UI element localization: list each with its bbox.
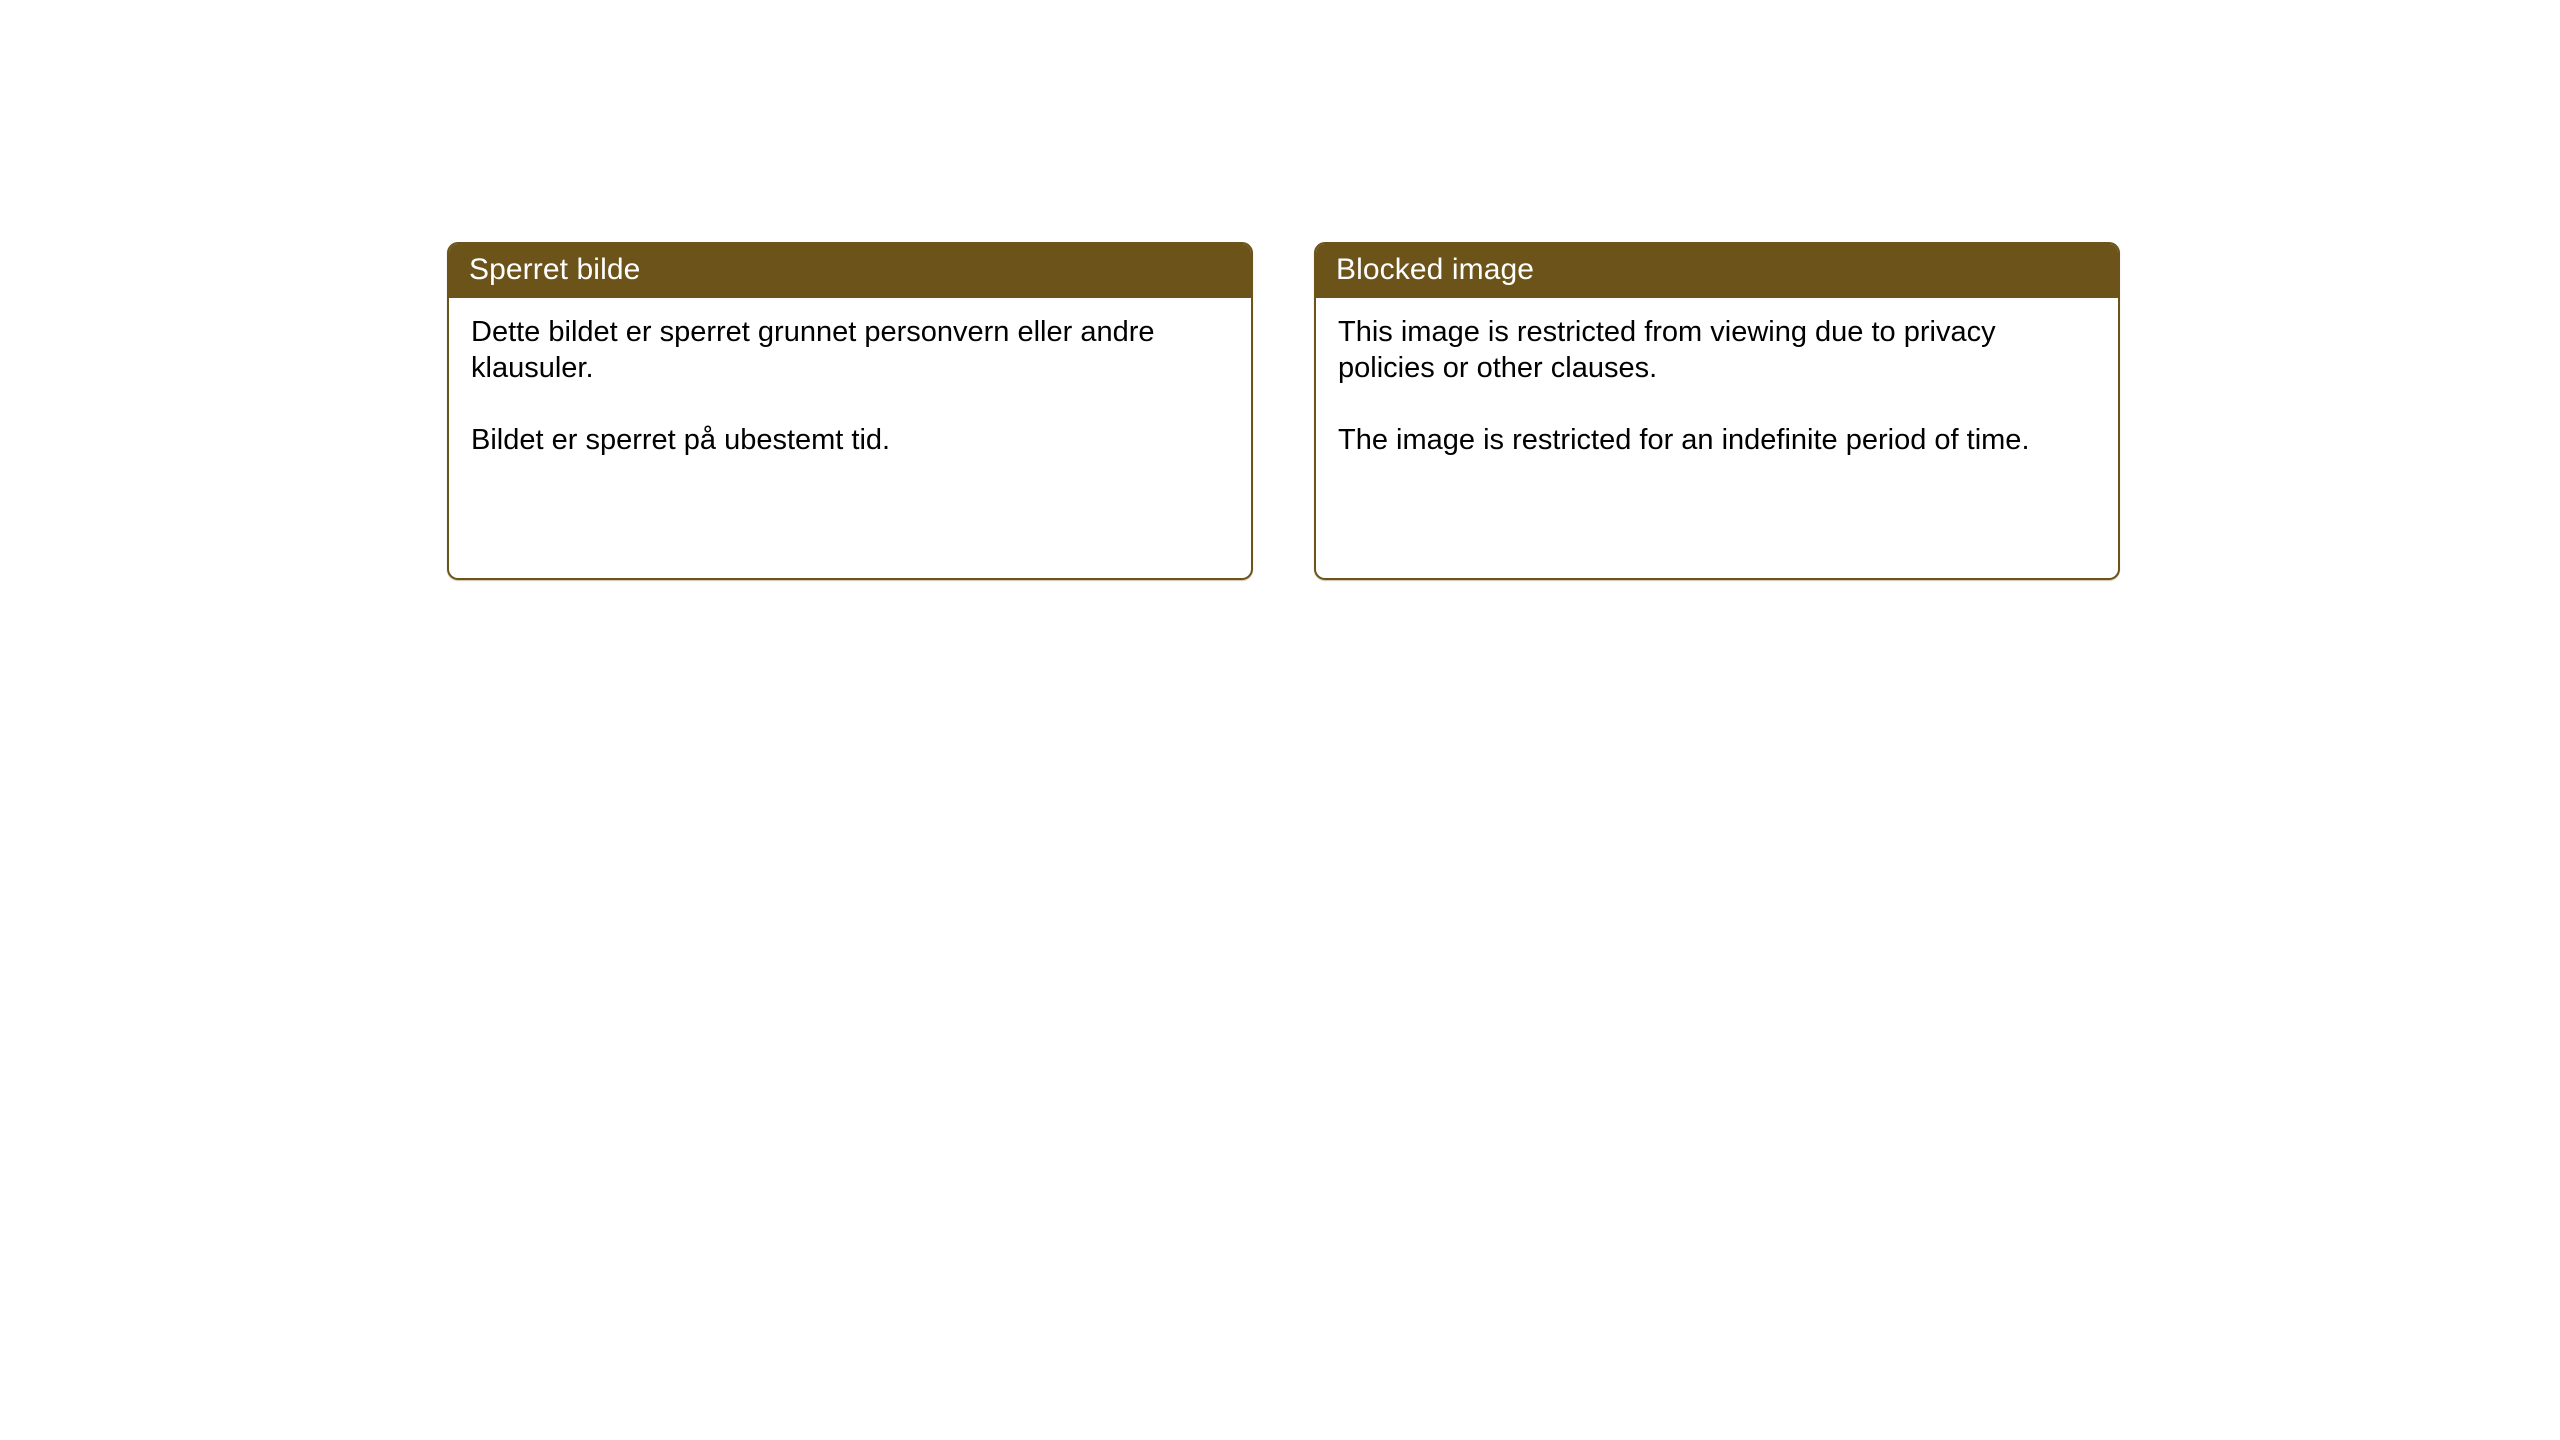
blocked-image-card-en: Blocked image This image is restricted f… xyxy=(1314,242,2120,580)
card-title-en: Blocked image xyxy=(1336,253,1534,287)
card-body-en: This image is restricted from viewing du… xyxy=(1316,298,2118,578)
card-paragraph-en-2: The image is restricted for an indefinit… xyxy=(1338,422,2078,458)
card-paragraph-en-1: This image is restricted from viewing du… xyxy=(1338,314,2078,386)
blocked-image-card-no: Sperret bilde Dette bildet er sperret gr… xyxy=(447,242,1253,580)
card-header-en: Blocked image xyxy=(1314,242,2120,298)
paragraph-spacer-en xyxy=(1338,386,2098,422)
paragraph-spacer-no xyxy=(471,386,1231,422)
card-header-no: Sperret bilde xyxy=(447,242,1253,298)
notice-card-group: Sperret bilde Dette bildet er sperret gr… xyxy=(447,242,2120,580)
card-paragraph-no-1: Dette bildet er sperret grunnet personve… xyxy=(471,314,1211,386)
page-root: Sperret bilde Dette bildet er sperret gr… xyxy=(0,0,2560,1440)
card-title-no: Sperret bilde xyxy=(469,253,640,287)
card-paragraph-no-2: Bildet er sperret på ubestemt tid. xyxy=(471,422,1211,458)
card-body-no: Dette bildet er sperret grunnet personve… xyxy=(449,298,1251,578)
